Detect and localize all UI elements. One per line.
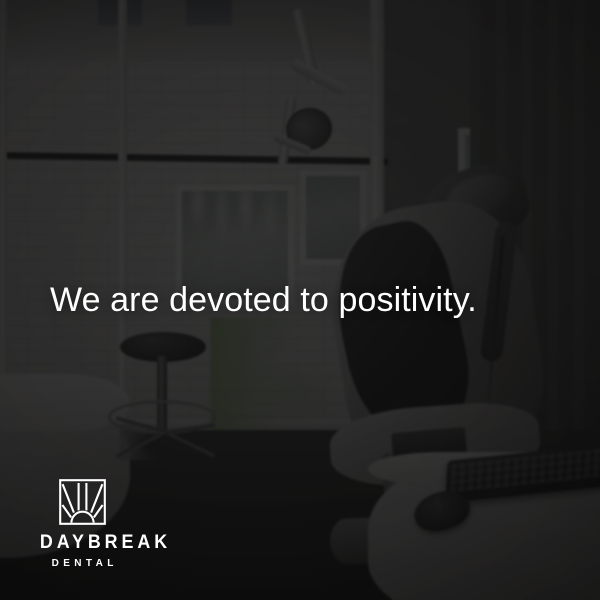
brand-tagline: DENTAL	[33, 559, 132, 569]
headline-text: We are devoted to positivity.	[50, 280, 570, 321]
brand-name: DAYBREAK	[36, 533, 129, 552]
promo-slide: We are devoted to positivity. DAYBREAK D…	[0, 0, 600, 600]
slide-content: We are devoted to positivity. DAYBREAK D…	[0, 0, 600, 600]
brand-logo-lockup: DAYBREAK DENTAL	[33, 479, 132, 569]
sunrise-square-icon	[59, 479, 106, 525]
